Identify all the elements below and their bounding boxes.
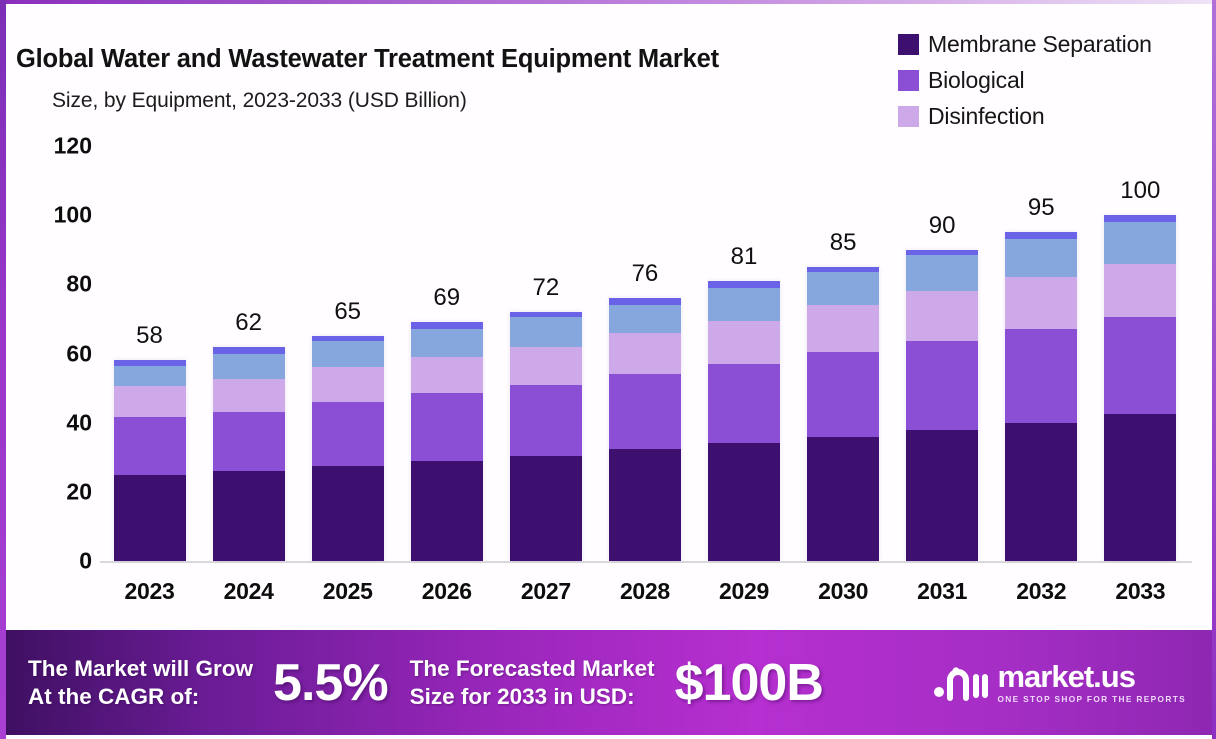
stacked-bar[interactable] — [411, 322, 483, 561]
bar-segment[interactable] — [1005, 277, 1077, 329]
bar-slot[interactable]: 90 — [893, 146, 992, 561]
y-axis-tick-label: 0 — [79, 548, 92, 575]
x-axis-tick-label: 2029 — [695, 578, 794, 605]
legend-swatch-icon — [898, 70, 919, 91]
cagr-label: The Market will Grow At the CAGR of: — [28, 655, 253, 710]
chart-infographic: Global Water and Wastewater Treatment Eq… — [0, 0, 1216, 739]
stacked-bar[interactable] — [114, 360, 186, 561]
y-axis-tick-label: 60 — [66, 340, 92, 367]
frame-right-accent — [1212, 0, 1216, 739]
bar-group: 58626569727681859095100 — [100, 146, 1190, 561]
page-title: Global Water and Wastewater Treatment Eq… — [16, 45, 719, 74]
bar-segment[interactable] — [510, 385, 582, 456]
x-axis-tick-label: 2030 — [794, 578, 893, 605]
bar-slot[interactable]: 72 — [496, 146, 595, 561]
page-subtitle: Size, by Equipment, 2023-2033 (USD Billi… — [52, 89, 467, 113]
stacked-bar[interactable] — [807, 267, 879, 561]
legend-item[interactable]: Disinfection — [898, 98, 1152, 134]
y-axis-tick-label: 100 — [54, 202, 92, 229]
bar-segment[interactable] — [213, 354, 285, 380]
bar-segment[interactable] — [609, 449, 681, 561]
bar-segment[interactable] — [807, 305, 879, 352]
bar-value-label: 58 — [100, 322, 199, 350]
stacked-bar[interactable] — [609, 298, 681, 561]
bar-value-label: 65 — [298, 298, 397, 326]
bar-segment[interactable] — [807, 352, 879, 437]
legend-item[interactable]: Membrane Separation — [898, 26, 1152, 62]
legend-swatch-icon — [898, 106, 919, 127]
bar-segment[interactable] — [609, 305, 681, 333]
stacked-bar[interactable] — [510, 312, 582, 561]
bar-value-label: 69 — [397, 284, 496, 312]
bar-segment[interactable] — [906, 291, 978, 341]
bar-segment[interactable] — [708, 288, 780, 321]
bar-segment[interactable] — [510, 317, 582, 346]
bar-segment[interactable] — [114, 386, 186, 417]
bar-segment[interactable] — [213, 471, 285, 561]
bar-segment[interactable] — [411, 329, 483, 357]
market-us-logo[interactable]: market.us ONE STOP SHOP FOR THE REPORTS — [930, 661, 1186, 703]
bar-value-label: 62 — [199, 309, 298, 337]
y-axis-tick-label: 20 — [66, 478, 92, 505]
legend-swatch-icon — [898, 34, 919, 55]
x-axis-tick-label: 2026 — [397, 578, 496, 605]
bar-segment[interactable] — [411, 461, 483, 561]
bottom-banner: The Market will Grow At the CAGR of: 5.5… — [6, 630, 1212, 735]
x-axis-tick-label: 2032 — [992, 578, 1091, 605]
frame-left-accent — [0, 0, 6, 739]
y-axis-tick-label: 120 — [54, 133, 92, 160]
x-axis-tick-label: 2028 — [595, 578, 694, 605]
bar-segment[interactable] — [807, 272, 879, 305]
bar-segment[interactable] — [411, 322, 483, 329]
bar-segment[interactable] — [708, 443, 780, 561]
x-axis-tick-label: 2027 — [496, 578, 595, 605]
y-axis-tick-label: 40 — [66, 409, 92, 436]
bar-segment[interactable] — [609, 374, 681, 448]
legend-item[interactable]: Biological — [898, 62, 1152, 98]
bar-segment[interactable] — [312, 367, 384, 402]
bar-segment[interactable] — [114, 417, 186, 474]
logo-text: market.us ONE STOP SHOP FOR THE REPORTS — [997, 661, 1186, 703]
bar-segment[interactable] — [906, 255, 978, 291]
bar-slot[interactable]: 95 — [992, 146, 1091, 561]
logo-wordmark: market.us — [997, 661, 1186, 692]
bar-segment[interactable] — [1104, 215, 1176, 222]
stacked-bar[interactable] — [312, 336, 384, 561]
bar-segment[interactable] — [114, 366, 186, 387]
bar-segment[interactable] — [1104, 317, 1176, 414]
bar-segment[interactable] — [708, 321, 780, 364]
bar-value-label: 90 — [893, 212, 992, 240]
stacked-bar[interactable] — [213, 347, 285, 561]
bar-segment[interactable] — [312, 341, 384, 367]
forecast-label: The Forecasted Market Size for 2033 in U… — [410, 655, 655, 710]
bar-value-label: 76 — [595, 260, 694, 288]
bar-slot[interactable]: 76 — [595, 146, 694, 561]
bar-segment[interactable] — [1005, 423, 1077, 561]
stacked-bar[interactable] — [906, 250, 978, 561]
x-axis-tick-label: 2033 — [1091, 578, 1190, 605]
stacked-bar[interactable] — [1005, 232, 1077, 561]
legend-item-label: Membrane Separation — [928, 31, 1152, 58]
bar-segment[interactable] — [807, 437, 879, 562]
x-axis-tick-label: 2024 — [199, 578, 298, 605]
x-axis-tick-label: 2025 — [298, 578, 397, 605]
bar-slot[interactable]: 58 — [100, 146, 199, 561]
bar-segment[interactable] — [708, 364, 780, 444]
chart-legend: Membrane SeparationBiologicalDisinfectio… — [898, 26, 1152, 134]
bar-segment[interactable] — [213, 412, 285, 471]
legend-item-label: Disinfection — [928, 103, 1045, 130]
bar-value-label: 95 — [992, 194, 1091, 222]
bar-slot[interactable]: 65 — [298, 146, 397, 561]
cagr-label-line1: The Market will Grow — [28, 655, 253, 682]
x-axis-line — [100, 561, 1192, 563]
bar-segment[interactable] — [510, 347, 582, 385]
bar-value-label: 100 — [1091, 177, 1190, 205]
x-axis-labels: 2023202420252026202720282029203020312032… — [100, 578, 1190, 605]
x-axis-tick-label: 2031 — [893, 578, 992, 605]
legend-item-label: Biological — [928, 67, 1024, 94]
forecast-label-line2: Size for 2033 in USD: — [410, 683, 655, 710]
bar-segment[interactable] — [708, 281, 780, 288]
cagr-value: 5.5% — [273, 653, 388, 713]
y-axis-tick-label: 80 — [66, 271, 92, 298]
bar-segment[interactable] — [1005, 232, 1077, 239]
bar-segment[interactable] — [213, 347, 285, 354]
bar-value-label: 72 — [496, 274, 595, 302]
bar-value-label: 81 — [695, 243, 794, 271]
bar-segment[interactable] — [1005, 329, 1077, 422]
x-axis-tick-label: 2023 — [100, 578, 199, 605]
bar-slot[interactable]: 100 — [1091, 146, 1190, 561]
forecast-label-line1: The Forecasted Market — [410, 655, 655, 682]
bar-segment[interactable] — [906, 341, 978, 429]
bar-segment[interactable] — [510, 456, 582, 561]
frame-top-accent — [6, 0, 1216, 4]
stacked-bar[interactable] — [1104, 215, 1176, 561]
bar-segment[interactable] — [609, 333, 681, 375]
bar-segment[interactable] — [411, 357, 483, 393]
bar-segment[interactable] — [906, 430, 978, 561]
bar-slot[interactable]: 85 — [794, 146, 893, 561]
bar-segment[interactable] — [114, 475, 186, 561]
bar-segment[interactable] — [213, 379, 285, 412]
bar-slot[interactable]: 62 — [199, 146, 298, 561]
bar-segment[interactable] — [312, 466, 384, 561]
stacked-bar[interactable] — [708, 281, 780, 561]
forecast-value: $100B — [675, 653, 823, 713]
bar-segment[interactable] — [1104, 414, 1176, 561]
bar-segment[interactable] — [1104, 264, 1176, 318]
bar-value-label: 85 — [794, 229, 893, 257]
cagr-label-line2: At the CAGR of: — [28, 683, 253, 710]
bar-segment[interactable] — [1005, 239, 1077, 277]
bar-segment[interactable] — [1104, 222, 1176, 264]
logo-tagline: ONE STOP SHOP FOR THE REPORTS — [997, 695, 1186, 703]
bar-segment[interactable] — [411, 393, 483, 460]
bar-segment[interactable] — [312, 402, 384, 466]
bar-slot[interactable]: 81 — [695, 146, 794, 561]
bar-segment[interactable] — [609, 298, 681, 305]
bar-slot[interactable]: 69 — [397, 146, 496, 561]
logo-mark-icon — [930, 662, 988, 702]
